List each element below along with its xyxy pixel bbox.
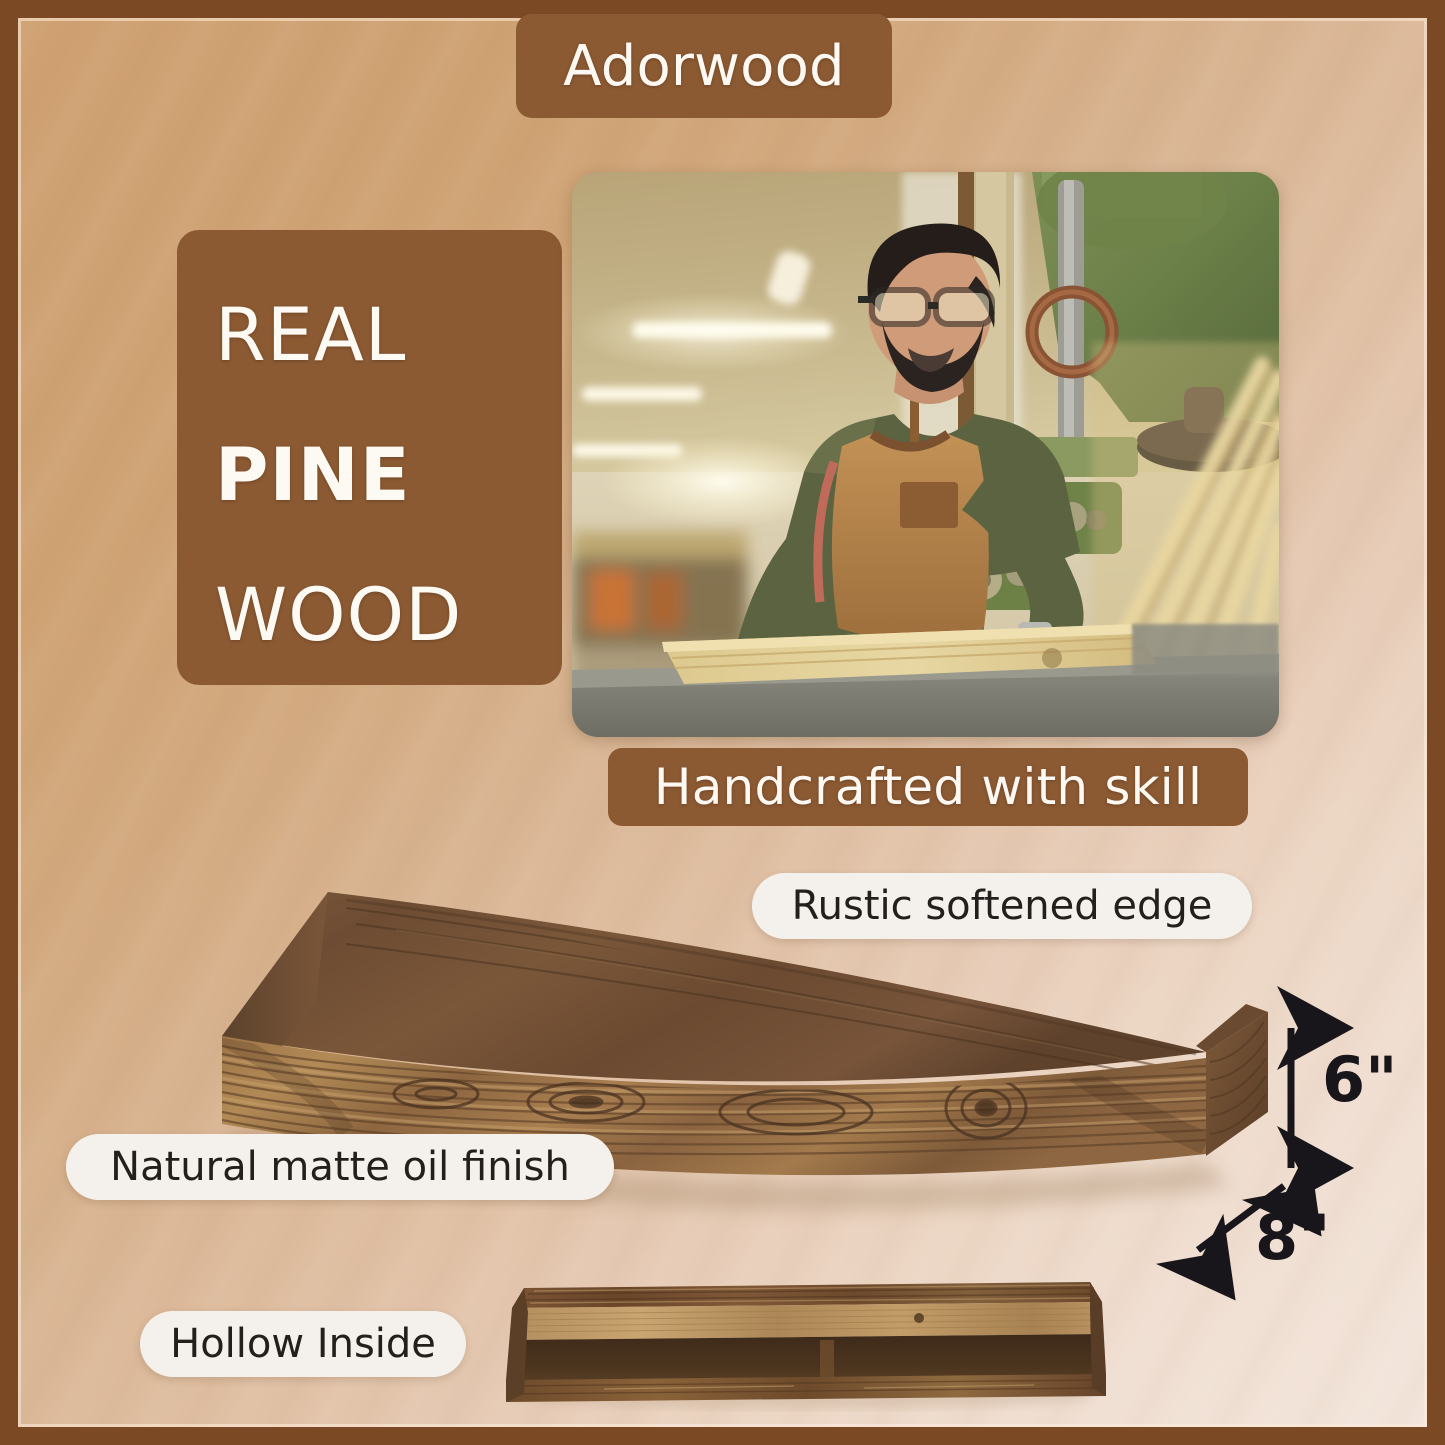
- callout-hollow-inside-label: Hollow Inside: [170, 1321, 436, 1367]
- depth-dimension-label: 8": [1255, 1201, 1330, 1274]
- workshop-photo-illustration: [572, 172, 1279, 737]
- photo-caption: Handcrafted with skill: [608, 748, 1248, 826]
- hollow-shelf-illustration: [494, 1268, 1114, 1418]
- headline-line-pine: PINE: [215, 406, 562, 546]
- brand-banner: Adorwood: [516, 14, 892, 118]
- headline-line-real: REAL: [215, 266, 562, 406]
- callout-rustic-edge: Rustic softened edge: [752, 873, 1252, 939]
- headline-line-wood: WOOD: [215, 546, 562, 686]
- workshop-photo: [572, 172, 1279, 737]
- callout-rustic-edge-label: Rustic softened edge: [792, 883, 1213, 929]
- brand-name: Adorwood: [563, 34, 845, 99]
- callout-hollow-inside: Hollow Inside: [140, 1311, 466, 1377]
- callout-oil-finish-label: Natural matte oil finish: [110, 1144, 570, 1190]
- hollow-shelf-image: [494, 1268, 1114, 1418]
- headline-panel: REAL PINE WOOD: [177, 230, 562, 685]
- height-dimension-label: 6": [1322, 1043, 1397, 1116]
- product-infographic: Adorwood REAL PINE WOOD: [0, 0, 1445, 1445]
- callout-oil-finish: Natural matte oil finish: [66, 1134, 614, 1200]
- photo-caption-label: Handcrafted with skill: [654, 758, 1202, 816]
